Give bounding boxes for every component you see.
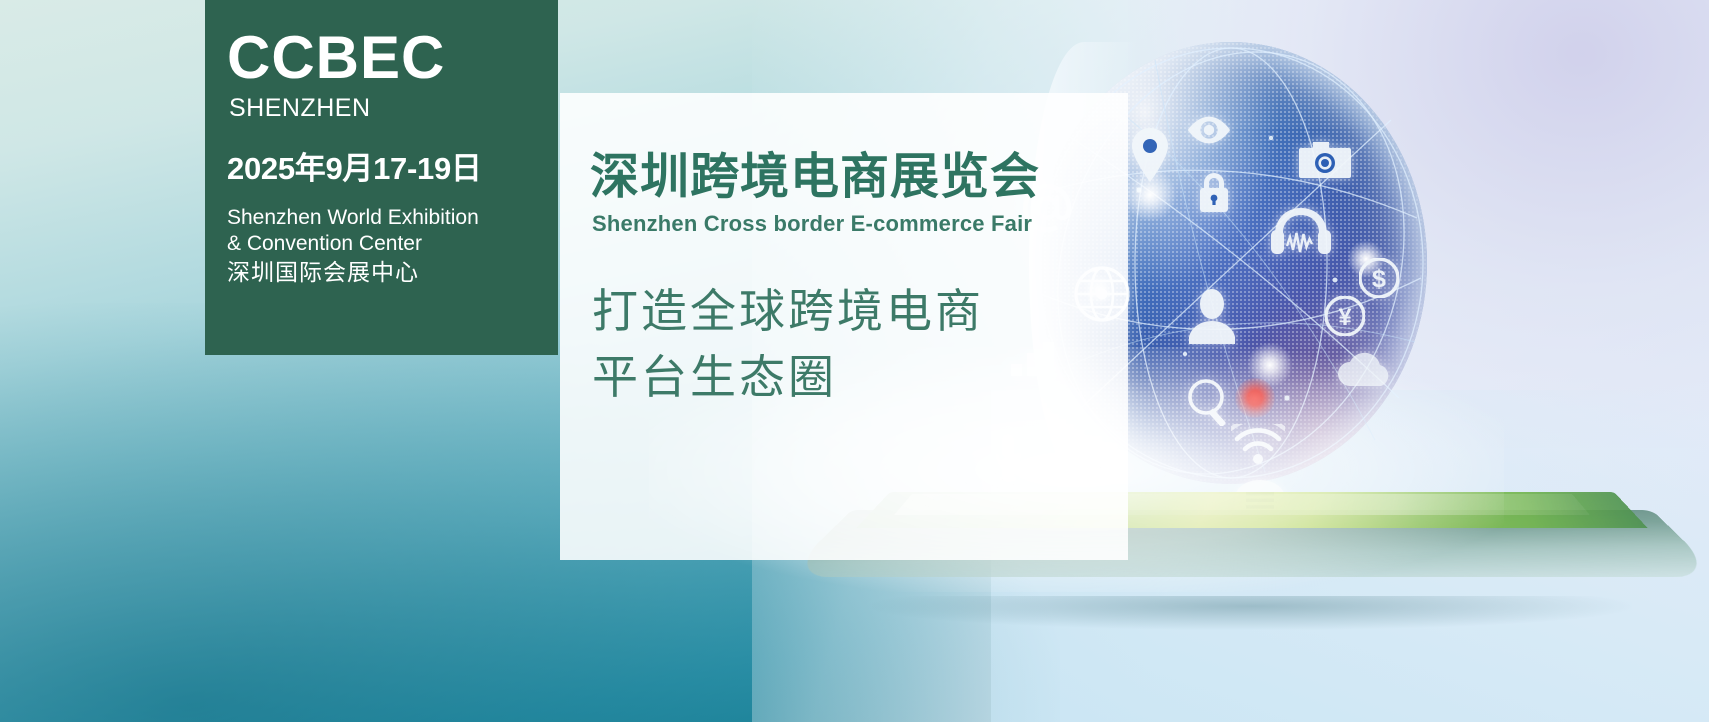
user-avatar-icon	[1187, 288, 1237, 344]
tablet-shadow	[872, 596, 1632, 630]
content-panel: 深圳跨境电商展览会 Shenzhen Cross border E-commer…	[560, 93, 1128, 560]
eye-icon	[1186, 115, 1232, 145]
event-tagline: 打造全球跨境电商 平台生态圈	[592, 279, 1128, 410]
lock-icon	[1196, 170, 1232, 214]
venue-en-line-1: Shenzhen World Exhibition	[227, 205, 558, 231]
venue-name-cn: 深圳国际会展中心	[227, 258, 558, 288]
identity-panel: CCBEC SHENZHEN 2025年9月17-19日 Shenzhen Wo…	[205, 0, 558, 355]
camera-icon	[1299, 142, 1351, 178]
headphones-icon	[1271, 208, 1331, 256]
svg-text:¥: ¥	[1338, 304, 1352, 331]
event-date: 2025年9月17-19日	[227, 150, 558, 187]
tagline-line-2: 平台生态圈	[592, 345, 1128, 410]
event-banner: $ ¥ CCBEC SHENZHEN 2025年9月17-19日	[0, 0, 1709, 722]
venue-name-en: Shenzhen World Exhibition & Convention C…	[227, 205, 558, 256]
yen-sign-icon: ¥	[1325, 296, 1365, 336]
tagline-line-1: 打造全球跨境电商	[592, 279, 1128, 344]
dollar-sign-icon: $	[1359, 258, 1399, 298]
venue-en-line-2: & Convention Center	[227, 231, 558, 257]
event-title-en: Shenzhen Cross border E-commerce Fair	[592, 211, 1128, 237]
event-title-cn: 深圳跨境电商展览会	[590, 151, 1128, 204]
brand-city: SHENZHEN	[229, 92, 558, 125]
svg-text:$: $	[1372, 265, 1386, 293]
brand-name: CCBEC	[227, 26, 558, 90]
